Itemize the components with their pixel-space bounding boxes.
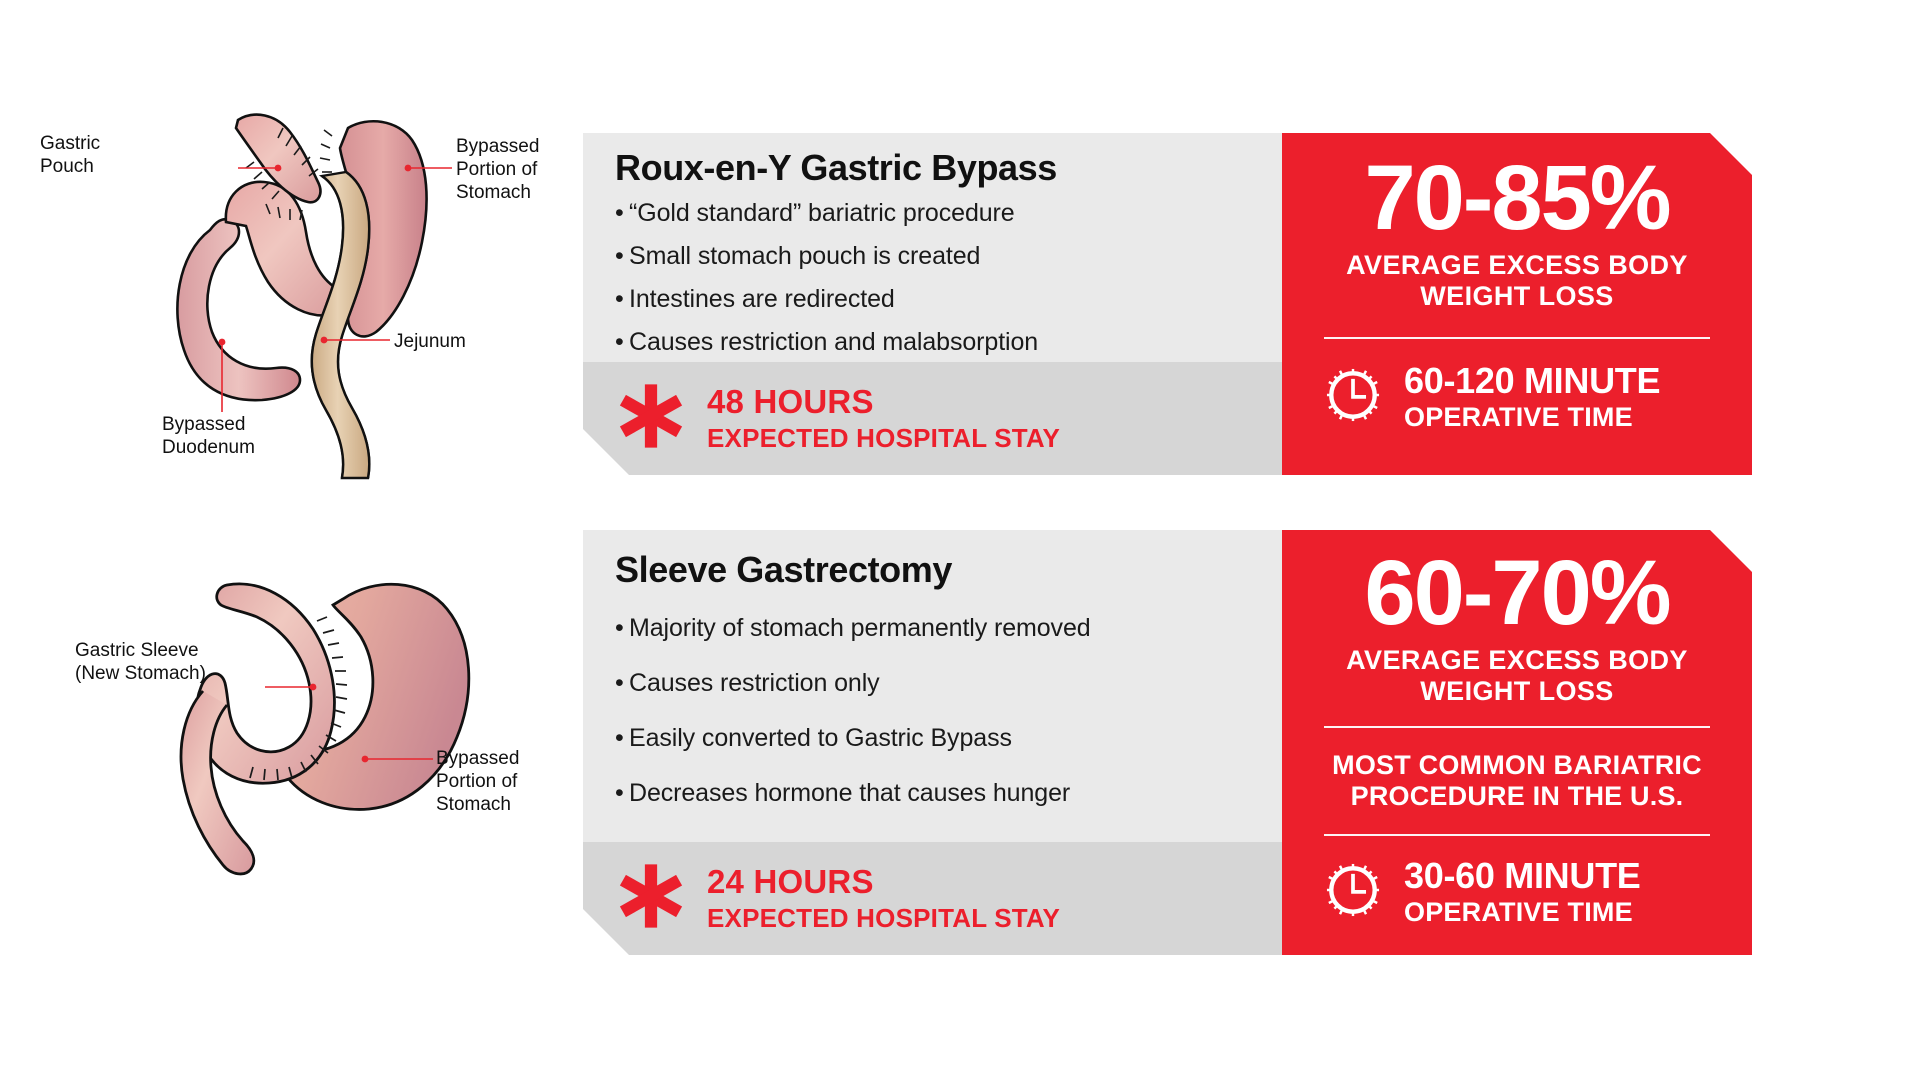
list-item-label: Causes restriction only — [629, 669, 880, 697]
list-item: •“Gold standard” bariatric procedure — [615, 199, 1265, 228]
bullet-dot: • — [615, 669, 629, 698]
panel-divider — [1324, 337, 1710, 339]
operative-time-row: 60-120 MINUTE OPERATIVE TIME — [1322, 363, 1752, 432]
operative-time-label: OPERATIVE TIME — [1404, 898, 1640, 928]
bypassed-portion-of-stomach-label: Bypassed Portion of Stomach — [436, 747, 586, 817]
list-item-label: Majority of stomach permanently removed — [629, 614, 1091, 642]
weight-loss-caption: AVERAGE EXCESS BODY WEIGHT LOSS — [1282, 250, 1752, 310]
list-item: •Intestines are redirected — [615, 285, 1265, 314]
weight-loss-caption-line2: WEIGHT LOSS — [1282, 676, 1752, 706]
list-item-label: Decreases hormone that causes hunger — [629, 779, 1070, 807]
weight-loss-caption-line2: WEIGHT LOSS — [1282, 281, 1752, 311]
stat-panel-roux-en-y: 70-85% AVERAGE EXCESS BODY WEIGHT LOSS — [1282, 133, 1752, 475]
list-item-label: Intestines are redirected — [629, 285, 895, 313]
clock-icon — [1322, 364, 1384, 431]
procedure-card-sleeve-gastrectomy: Sleeve Gastrectomy •Majority of stomach … — [583, 530, 1752, 955]
bypassed-portion-of-stomach-label: Bypassed Portion of Stomach — [456, 135, 606, 205]
procedure-note-line2: PROCEDURE IN THE U.S. — [1282, 781, 1752, 812]
operative-time-value: 30-60 MINUTE — [1404, 858, 1640, 895]
weight-loss-percent: 60-70% — [1282, 550, 1752, 637]
hospital-stay-text: 24 HOURS EXPECTED HOSPITAL STAY — [707, 863, 1060, 934]
panel-divider — [1324, 834, 1710, 836]
procedure-card-roux-en-y: Roux-en-Y Gastric Bypass •“Gold standard… — [583, 133, 1752, 475]
hospital-stay-hours: 48 HOURS — [707, 383, 1060, 421]
panel-divider — [1324, 726, 1710, 728]
operative-time-text: 60-120 MINUTE OPERATIVE TIME — [1404, 363, 1660, 432]
asterisk-icon — [615, 860, 687, 932]
list-item: •Small stomach pouch is created — [615, 242, 1265, 271]
bullet-dot: • — [615, 242, 629, 271]
bullet-list-sleeve-gastrectomy: •Majority of stomach permanently removed… — [615, 614, 1275, 808]
bullet-dot: • — [615, 199, 629, 228]
gastric-pouch-label: Gastric Pouch — [40, 132, 170, 178]
jejunum-label: Jejunum — [394, 330, 534, 353]
list-item-label: Causes restriction and malabsorption — [629, 328, 1038, 356]
bullet-dot: • — [615, 285, 629, 314]
list-item: •Causes restriction and malabsorption — [615, 328, 1265, 357]
bullet-dot: • — [615, 779, 629, 808]
procedure-note-line1: MOST COMMON BARIATRIC — [1282, 750, 1752, 781]
list-item-label: Easily converted to Gastric Bypass — [629, 724, 1012, 752]
weight-loss-caption: AVERAGE EXCESS BODY WEIGHT LOSS — [1282, 645, 1752, 705]
sleeve-gastrectomy-anatomy-illustration — [165, 565, 565, 915]
bullet-list-roux-en-y: •“Gold standard” bariatric procedure •Sm… — [615, 199, 1265, 357]
infographic-canvas: Roux-en-Y Gastric Bypass •“Gold standard… — [0, 0, 1920, 1080]
list-item: •Decreases hormone that causes hunger — [615, 779, 1275, 808]
list-item: •Majority of stomach permanently removed — [615, 614, 1275, 643]
stat-panel-sleeve-gastrectomy: 60-70% AVERAGE EXCESS BODY WEIGHT LOSS M… — [1282, 530, 1752, 955]
weight-loss-caption-line1: AVERAGE EXCESS BODY — [1282, 250, 1752, 280]
list-item: •Causes restriction only — [615, 669, 1275, 698]
operative-time-label: OPERATIVE TIME — [1404, 403, 1660, 433]
page-title-roux-en-y: Roux-en-Y Gastric Bypass — [615, 147, 1057, 189]
bypassed-duodenum-label: Bypassed Duodenum — [162, 413, 312, 459]
hospital-stay-label: EXPECTED HOSPITAL STAY — [707, 423, 1060, 454]
list-item-label: “Gold standard” bariatric procedure — [629, 199, 1015, 227]
hospital-stay-text: 48 HOURS EXPECTED HOSPITAL STAY — [707, 383, 1060, 454]
procedure-note: MOST COMMON BARIATRIC PROCEDURE IN THE U… — [1282, 750, 1752, 812]
operative-time-value: 60-120 MINUTE — [1404, 363, 1660, 400]
weight-loss-caption-line1: AVERAGE EXCESS BODY — [1282, 645, 1752, 675]
list-item: •Easily converted to Gastric Bypass — [615, 724, 1275, 753]
bullet-dot: • — [615, 328, 629, 357]
page-title-sleeve-gastrectomy: Sleeve Gastrectomy — [615, 549, 952, 591]
weight-loss-percent: 70-85% — [1282, 155, 1752, 242]
clock-icon — [1322, 859, 1384, 926]
bullet-dot: • — [615, 724, 629, 753]
list-item-label: Small stomach pouch is created — [629, 242, 980, 270]
bullet-dot: • — [615, 614, 629, 643]
gastric-sleeve-label: Gastric Sleeve (New Stomach) — [75, 639, 265, 685]
operative-time-text: 30-60 MINUTE OPERATIVE TIME — [1404, 858, 1640, 927]
asterisk-icon — [615, 380, 687, 452]
hospital-stay-hours: 24 HOURS — [707, 863, 1060, 901]
operative-time-row: 30-60 MINUTE OPERATIVE TIME — [1322, 858, 1752, 927]
hospital-stay-label: EXPECTED HOSPITAL STAY — [707, 903, 1060, 934]
